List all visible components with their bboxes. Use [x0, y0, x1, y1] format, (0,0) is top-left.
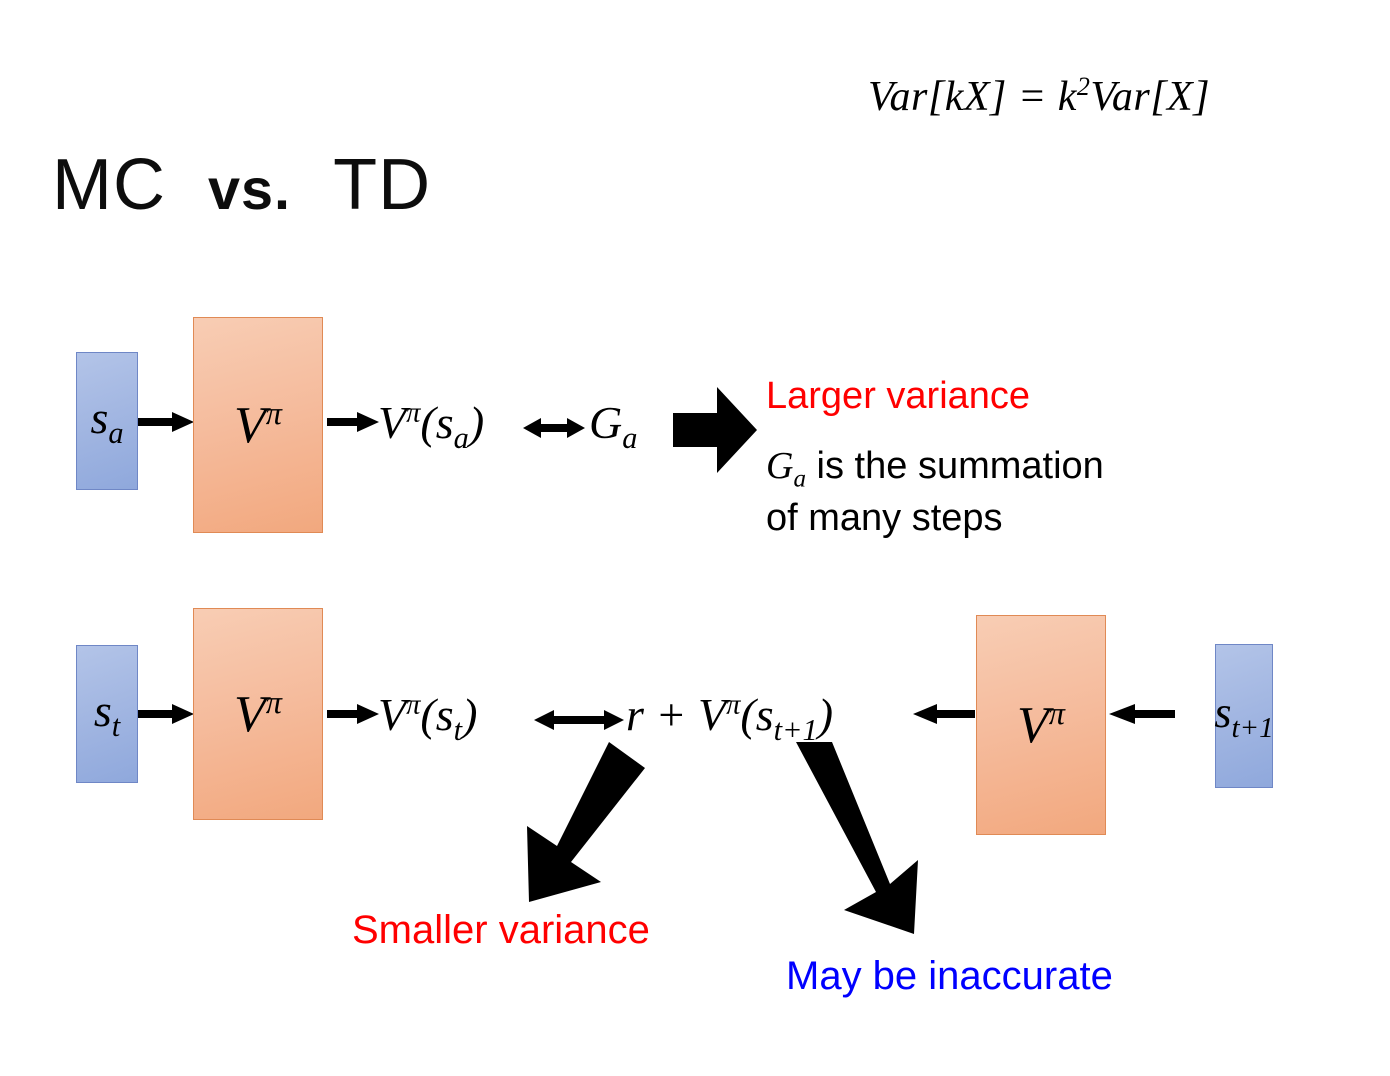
value-box-vpi-td-right-label: Vπ [1017, 695, 1065, 755]
arrow-left-icon [913, 703, 975, 725]
state-box-st-label: st [94, 684, 120, 744]
expression-v-pi-st: Vπ(st) [378, 688, 477, 748]
thick-arrow-down-right-icon [778, 742, 926, 937]
arrow-right-icon [327, 703, 379, 725]
temporal-difference-row: st Vπ Vπ(st) [0, 0, 1390, 1076]
arrow-right-icon [138, 703, 194, 725]
value-box-vpi-td-left[interactable]: Vπ [193, 608, 323, 820]
expression-r-plus-v-pi-st1: r + Vπ(st+1) [626, 688, 833, 748]
state-box-st-plus-1[interactable]: st+1 [1215, 644, 1273, 788]
slide-canvas: Var[kX] = k2Var[X] MC vs. TD sa Vπ [0, 0, 1390, 1076]
value-box-vpi-td-left-label: Vπ [234, 684, 282, 744]
arrow-left-icon [1109, 703, 1175, 725]
callout-may-be-inaccurate: May be inaccurate [786, 950, 1113, 1003]
state-box-st-plus-1-label: st+1 [1214, 687, 1273, 745]
callout-smaller-variance: Smaller variance [352, 904, 650, 957]
thick-arrow-down-left-icon [505, 742, 645, 907]
state-box-st[interactable]: st [76, 645, 138, 783]
double-headed-arrow-icon [534, 709, 624, 731]
value-box-vpi-td-right[interactable]: Vπ [976, 615, 1106, 835]
